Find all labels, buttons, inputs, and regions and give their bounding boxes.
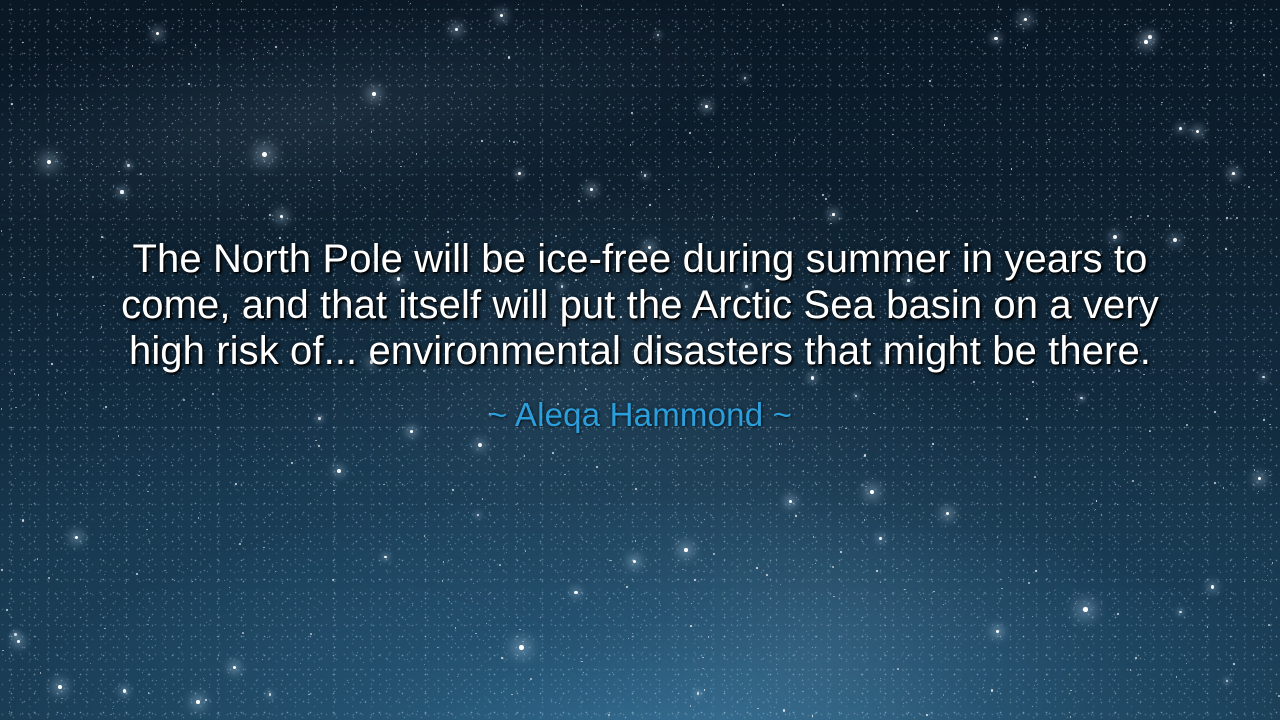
quote-line-3: high risk of... environmental disasters … [110, 328, 1170, 374]
quote-line-2: come, and that itself will put the Arcti… [110, 282, 1170, 328]
quote-text-block: The North Pole will be ice-free during s… [0, 0, 1280, 720]
quote-author: ~ Aleqa Hammond ~ [488, 396, 792, 434]
quote-line-1: The North Pole will be ice-free during s… [110, 236, 1170, 282]
quote-card: The North Pole will be ice-free during s… [0, 0, 1280, 720]
quote-text: The North Pole will be ice-free during s… [110, 236, 1170, 374]
